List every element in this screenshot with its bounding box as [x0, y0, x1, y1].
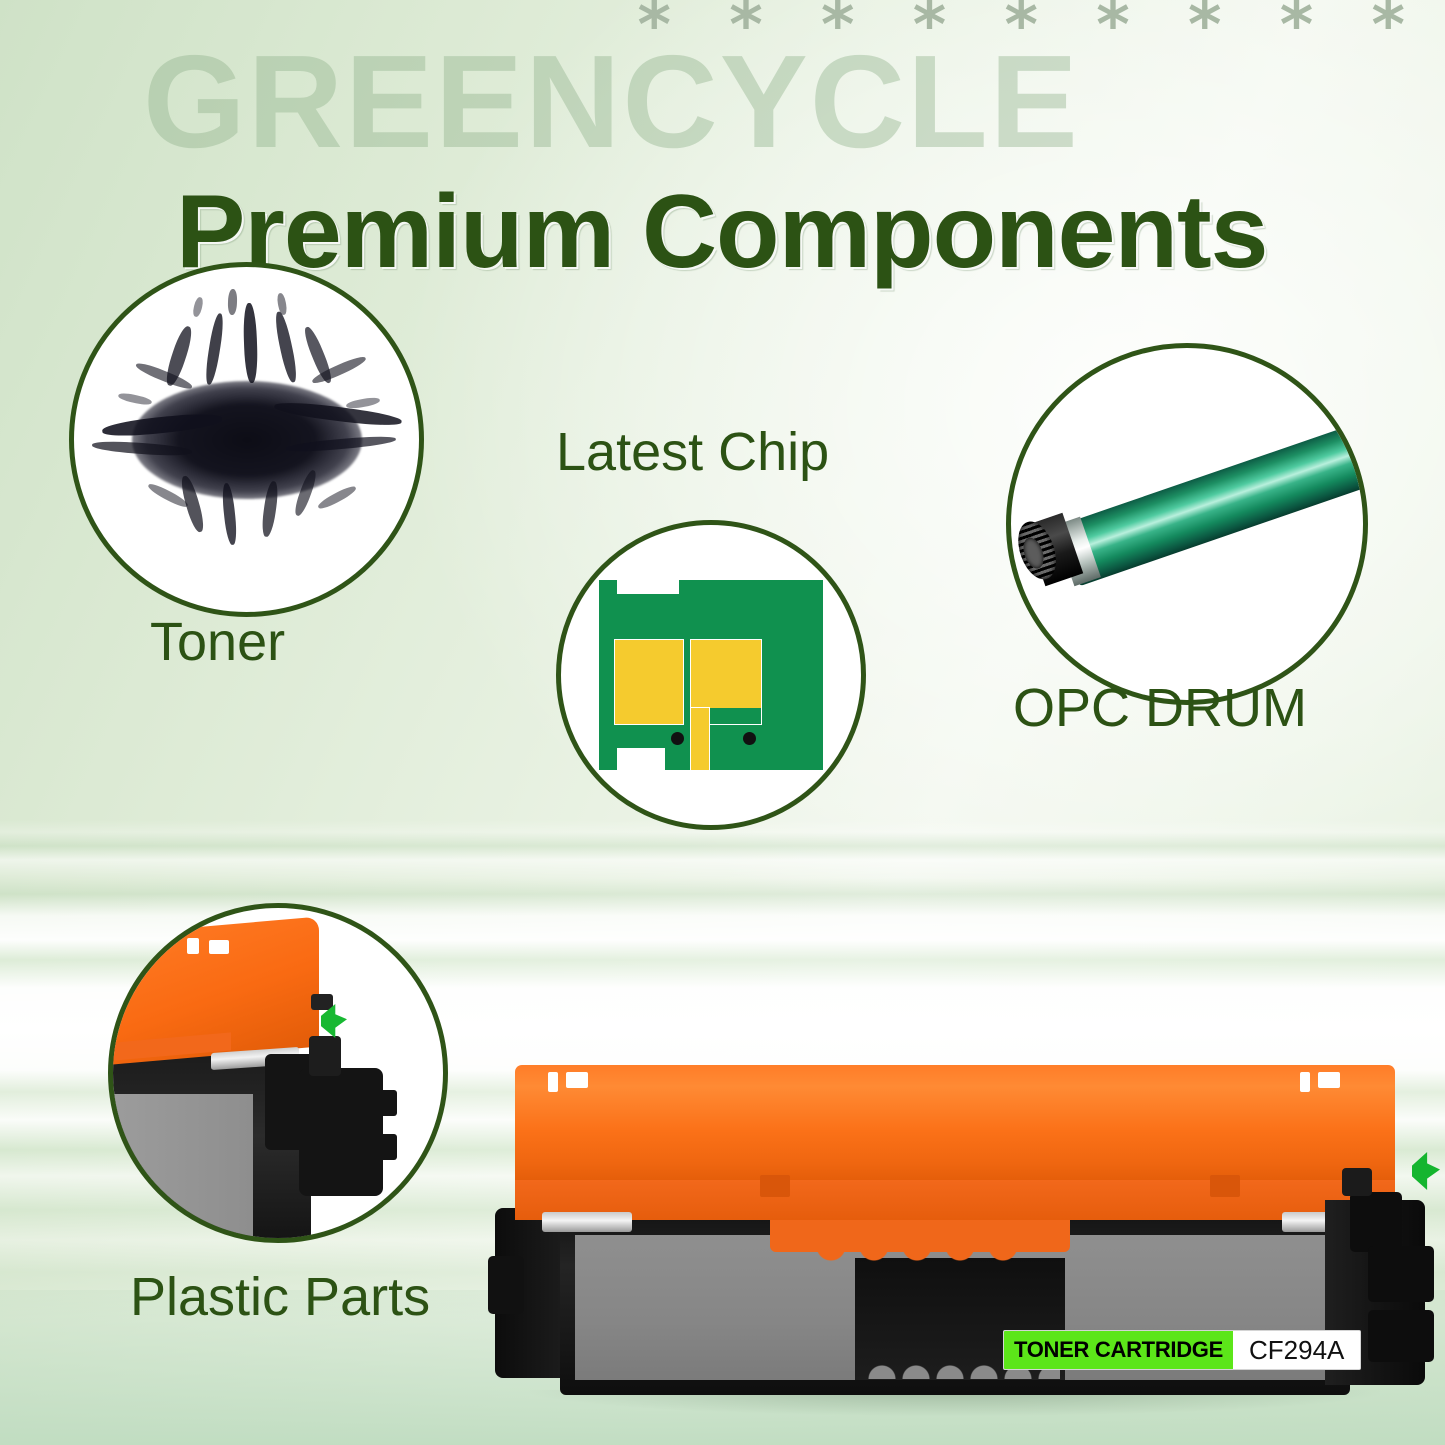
- cartridge-orange-shell: [515, 1065, 1395, 1185]
- toner-powder-icon: [74, 267, 419, 612]
- cartridge-left-arm: [488, 1256, 524, 1314]
- feature-label-opc-drum: OPC DRUM: [1013, 681, 1307, 735]
- feature-circle-plastic-parts: [108, 903, 448, 1243]
- feature-circle-opc-drum: [1006, 343, 1368, 705]
- opc-drum-icon: [1011, 348, 1363, 700]
- product-feature-banner: * * * * * * * * * GREENCYCLE Premium Com…: [0, 0, 1445, 1445]
- cartridge-orange-wave-edge: [815, 1246, 1030, 1266]
- feature-label-chip: Latest Chip: [556, 425, 829, 479]
- cartridge-label: TONER CARTRIDGE CF294A: [1003, 1330, 1361, 1370]
- plastic-housing-icon: [113, 908, 443, 1238]
- toner-cartridge-product-image: TONER CARTRIDGE CF294A: [470, 1060, 1445, 1420]
- feature-label-plastic-parts: Plastic Parts: [130, 1270, 430, 1324]
- label-category: TONER CARTRIDGE: [1004, 1331, 1233, 1369]
- cartridge-orange-front: [515, 1180, 1395, 1220]
- brand-watermark: GREENCYCLE: [143, 36, 1080, 168]
- smart-chip-icon: [599, 580, 823, 770]
- feature-label-toner: Toner: [150, 615, 285, 669]
- label-model-number: CF294A: [1233, 1331, 1360, 1369]
- feature-circle-chip: [556, 520, 866, 830]
- cartridge-green-release-tab: [1412, 1152, 1440, 1190]
- feature-circle-toner: [69, 262, 424, 617]
